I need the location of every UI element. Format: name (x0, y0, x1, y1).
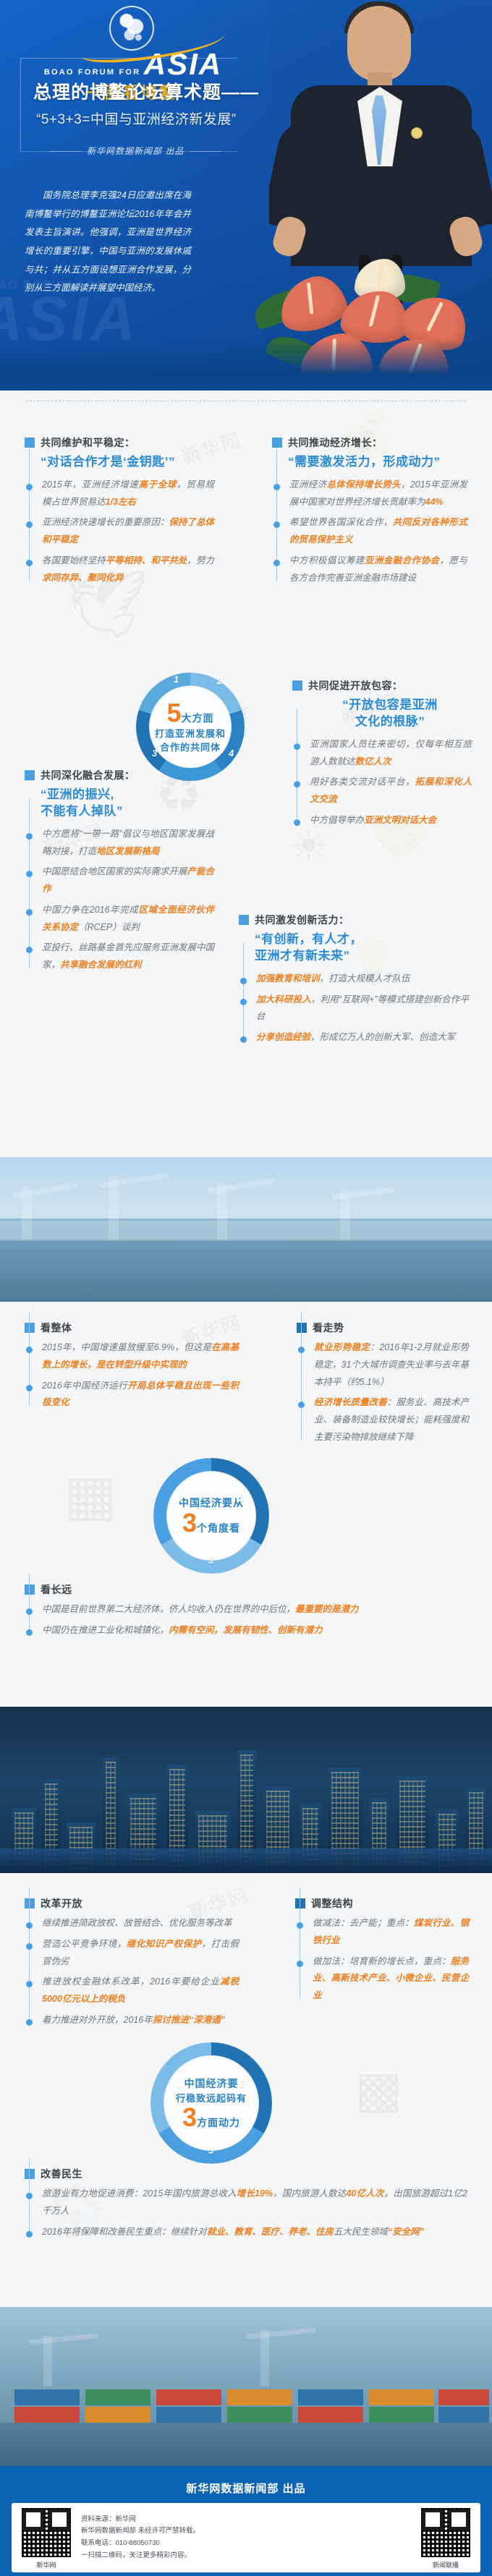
highlight-text: 增长19% (237, 2188, 273, 2198)
aspect-1-bullets: 2015年，亚洲经济增速高于全球，贸易规模占世界贸易达1/3左右亚洲经济快速增长… (29, 477, 214, 587)
body-text: 继续推进简政放权、放管结合、优化服务等改革 (42, 1918, 232, 1928)
aspect-4-quote: “开放包容是亚洲 文化的根脉” (308, 697, 472, 730)
donut-label-3: 3 (152, 748, 157, 759)
donut-chart-2: 中国经济要从 3个角度看 1 2 3 (153, 1458, 269, 1574)
bullet-item: 亚投行、丝路基金首先应服务亚洲发展中国家，共享融合发展的红利 (29, 939, 214, 974)
highlight-text: 平等相待、和平共处 (106, 555, 187, 566)
donut2-line2: 个角度看 (197, 1522, 240, 1534)
donut3-label-3: 3 (208, 2145, 213, 2156)
hero-gradient-fade (0, 340, 492, 391)
driver-1-header: 改革开放 (25, 1896, 239, 1911)
port-crane-arm-1 (29, 2333, 98, 2345)
body-text: ，打造大规模人才队伍 (320, 973, 410, 984)
body-text: 培育新的增长点，重点： (349, 1956, 451, 1966)
container-2 (14, 2389, 80, 2405)
driver-3-title: 改善民生 (41, 2167, 82, 2181)
crane-arm-3 (208, 1178, 275, 1194)
angle-1-bullets: 2015年，中国增速虽放缓至6.9%，但这是在高基数上的增长，是在转型升级中实现… (29, 1339, 239, 1412)
body-text: 营造公平竞争环境， (42, 1939, 127, 1949)
page-title: 总理的博鳌论坛算术题—— (33, 78, 259, 104)
aspect-4-header: 共同促进开放包容： (292, 678, 472, 693)
donut-center: 5大方面 打造亚洲发展和 合作的共同体 (149, 686, 232, 768)
bullet-square-icon (25, 438, 35, 448)
body-text: 中国力争在2016年完成 (42, 905, 139, 915)
bullet-item: 做加法：培育新的增长点，重点：服务业、高新技术产业、小微企业、民营企业 (300, 1953, 469, 2005)
container-8 (227, 2389, 292, 2405)
body-text: 中方倡导举办 (310, 815, 364, 825)
body-text: 做减法： (313, 1918, 349, 1928)
bullet-item: 中国愿结合地区国家的实际需求开展产能合作 (29, 863, 214, 898)
bullet-item: 旅游业有力地促进消费：2015年国内旅游总收入增长19%，国内旅游人数达40亿人… (29, 2185, 467, 2220)
bullet-item: 营造公平竞争环境，继化知识产权保护，打击假冒伪劣 (29, 1936, 239, 1971)
body-text: 着力推进对外开放，2016年 (42, 2015, 153, 2025)
donut-label-4: 4 (229, 748, 234, 759)
aspect-3-quote: “亚洲的振兴, 不能有人掉队” (41, 787, 214, 820)
body-text: 亚洲经济快速增长的重要原因： (42, 517, 169, 527)
qr-cell-2[interactable]: 新闻联播 (420, 2507, 472, 2569)
angle-2-header: 看走势 (297, 1321, 469, 1335)
aspect-1-title: 共同维护和平稳定： (41, 435, 135, 450)
body-text: 中国愿结合地区国家的实际需求开展 (42, 866, 187, 877)
river (0, 1848, 492, 1873)
logo-tagline: BOAO FORUM FOR (44, 68, 140, 77)
three-drivers-donut: 中国经济要 行稳致远起码有 3方面动力 1 2 3 (150, 2042, 272, 2164)
angle-1-header: 看整体 (25, 1321, 239, 1335)
body-text: ，形成亿万人的创新大军、创造大军 (310, 1032, 455, 1042)
port-crane-arm-2 (246, 2327, 315, 2340)
driver-card-1: 改革开放 继续推进简政放权、放管结合、优化服务等改革营造公平竞争环境，继化知识产… (25, 1896, 239, 2033)
donut2-label-1: 1 (178, 1493, 183, 1504)
highlight-text: 1/3左右 (106, 497, 136, 507)
qr-label-2: 新闻联播 (420, 2560, 472, 2569)
highlight-text: 数亿人次 (355, 756, 391, 767)
footer-title: 新华网数据新闻部 出品 (0, 2476, 492, 2503)
donut3-headline: 3方面动力 (182, 2104, 240, 2131)
aspect-card-1: 共同维护和平稳定： “对话合作才是‘金钥匙’” 2015年，亚洲经济增速高于全球… (25, 435, 214, 590)
container-port-band (0, 2307, 492, 2466)
highlight-text: 40亿人次 (347, 2188, 384, 2198)
angle-card-2: 看走势 就业形势稳定：2016年1-2月就业形势稳定，31个大城市调查失业率与去… (297, 1321, 469, 1450)
angle-card-1: 看整体 2015年，中国增速虽放缓至6.9%，但这是在高基数上的增长，是在转型升… (25, 1321, 239, 1415)
bullet-item: 继续推进简政放权、放管结合、优化服务等改革 (29, 1915, 239, 1932)
flower-1 (274, 270, 352, 337)
body-text: 各国要始终坚持 (42, 555, 106, 566)
crane-arm-2 (100, 1172, 169, 1187)
bullet-item: 中国力争在2016年完成区域全面经济伙伴关系协定（RCEP）谈判 (29, 902, 214, 937)
driver-card-2: 调整结构 做减法：去产能；重点：煤炭行业、钢铁行业做加法：培育新的增长点，重点：… (295, 1896, 469, 2008)
aspect-5-bullets: 加强教育和培训，打造大规模人才队伍加大科研投入，利用“互联网+”等模式搭建创新合… (243, 971, 469, 1046)
bullet-item: 亚洲国家人员往来密切，仅每年相互旅游人数就达数亿人次 (297, 736, 472, 771)
bullet-item: 亚洲经济总体保持增长势头，2015年亚洲发展中国家对世界经济增长贡献率为44% (276, 477, 467, 511)
highlight-text: 探讨推进“深港通” (153, 2015, 225, 2025)
highlight-text: “安全网” (388, 2227, 424, 2237)
aspect-2-title: 共同推动经济增长： (288, 435, 383, 450)
bullet-item: 分享创造经验，形成亿万人的创新大军、创造大军 (243, 1029, 469, 1046)
infographic-page: BOAO FORUM FOR ASIA BOAO FORUM FOR ASIA … (0, 0, 492, 2576)
highlight-text: 经济增长质量改善 (314, 1397, 387, 1407)
donut3-line3: 方面动力 (197, 2117, 240, 2128)
highlight-text: 44% (425, 497, 444, 507)
bullet-item: 中方倡导举办亚洲文明对话大会 (297, 812, 472, 829)
body-text: 中国是目前世界第二大经济体，侪人均收入仍在世界的中后位， (42, 1604, 295, 1614)
bullet-square-icon (25, 1585, 35, 1595)
bullet-item: 2016年中国经济运行开局总体平稳且出现一些积极变化 (29, 1378, 239, 1412)
highlight-text: 总体保持增长势头 (326, 479, 401, 490)
bullet-item: 2015年，亚洲经济增速高于全球，贸易规模占世界贸易达1/3左右 (29, 477, 214, 511)
angle-3-bullets: 中国是目前世界第二大经济体，侪人均收入仍在世界的中后位，最重要的是潜力中国仍在推… (29, 1601, 467, 1639)
container-3 (85, 2407, 150, 2423)
body-text: 做加法： (313, 1956, 349, 1966)
donut-label-5: 5 (242, 704, 247, 715)
angle-3-header: 看长远 (25, 1582, 467, 1597)
highlight-text: 加大科研投入 (256, 994, 311, 1005)
highlight-text: 亚洲文明对话大会 (364, 815, 436, 825)
bullet-item: 中方积极倡议筹建亚洲金融合作协会，愿与各方合作完善亚洲金融市场建设 (276, 553, 467, 587)
highlight-text: 加强教育和培训 (256, 973, 320, 984)
body-text: 用好各类交流对话平台， (310, 777, 415, 787)
three-angles-donut: 中国经济要从 3个角度看 1 2 3 (153, 1458, 269, 1574)
footer-meta: 资料来源：新华网 新华网数据新闻部 未经许可严禁转载。 联系电话：010-880… (81, 2514, 411, 2562)
container-7 (227, 2407, 292, 2423)
body-text: 中国仍在推进工业化和城镇化， (42, 1625, 169, 1635)
hero-section: BOAO FORUM FOR ASIA BOAO FORUM FOR ASIA … (0, 0, 492, 391)
qr-label-1: 新华网 (20, 2560, 72, 2569)
body-text: 去产能；重点： (349, 1918, 414, 1928)
angle-2-bullets: 就业形势稳定：2016年1-2月就业形势稳定，31个大城市调查失业率与去年基本持… (301, 1339, 469, 1446)
donut-label-2: 2 (217, 675, 222, 686)
qr-code-icon-1[interactable] (20, 2507, 72, 2559)
donut-chart: 5大方面 打造亚洲发展和 合作的共同体 1 2 3 4 5 (136, 673, 245, 781)
donut3-line1: 中国经济要 (184, 2076, 239, 2091)
bullet-item: 经济增长质量改善：服务业、高技术产业、装备制造业较快增长；能耗强度和主要污染物排… (301, 1394, 469, 1446)
donut-line1: 大方面 (182, 712, 214, 724)
bullet-item: 亚洲经济快速增长的重要原因：保持了总体和平稳定 (29, 514, 214, 549)
aspect-card-4: 共同促进开放包容： “开放包容是亚洲 文化的根脉” 亚洲国家人员往来密切，仅每年… (292, 678, 472, 833)
bullet-item: 中国是目前世界第二大经济体，侪人均收入仍在世界的中后位，最重要的是潜力 (29, 1601, 467, 1618)
driver-card-3: 改善民生 旅游业有力地促进消费：2015年国内旅游总收入增长19%，国内旅游人数… (25, 2167, 467, 2244)
crane-arm-4 (331, 1187, 395, 1200)
port-water (0, 2423, 492, 2466)
donut-headline: 5大方面 (166, 700, 213, 726)
section1-divider (26, 401, 466, 401)
page-footer: 新华网数据新闻部 出品 新华网 资料来源：新华网 新华网数据新闻部 未经许可严禁… (0, 2466, 492, 2576)
highlight-text: 高于全球 (139, 479, 177, 490)
aspect-5-title: 共同激发创新活力： (255, 913, 349, 927)
highlight-text: 求同存异、聚同化异 (42, 573, 124, 583)
highlight-text: 就业、教育、医疗、养老、住房 (207, 2227, 334, 2237)
harbour-photo-band (0, 1157, 492, 1302)
angle-card-3: 看长远 中国是目前世界第二大经济体，侪人均收入仍在世界的中后位，最重要的是潜力中… (25, 1582, 467, 1643)
page-subtitle: “5+3+3=中国与亚洲经济新发展” (36, 108, 237, 128)
container-12 (369, 2389, 434, 2405)
body-text: 旅游业有力地促进消费：2015年国内旅游总收入 (42, 2188, 237, 2198)
aspect-3-title: 共同深化融合发展： (41, 768, 135, 782)
water (0, 1240, 492, 1302)
bullet-item: 中方愿将“一带一路”倡议与地区国家发展战略对接，打造地区发展新格局 (29, 826, 214, 861)
highlight-text: 最重要的是潜力 (295, 1604, 359, 1614)
container-4 (85, 2389, 150, 2405)
section-five-aspects: 新华网 新华网 新华网 💰 ♻ 🤝 ☀ 🕊 💡 共同维护和平稳定： “对话合作才… (0, 391, 492, 1157)
bullet-item: 加强教育和培训，打造大规模人才队伍 (243, 971, 469, 988)
bullet-square-icon (292, 681, 302, 691)
footer-card: 新华网 资料来源：新华网 新华网数据新闻部 未经许可严禁转载。 联系电话：010… (12, 2503, 480, 2572)
aspect-2-quote: “需要激发活力，形成动力” (288, 454, 467, 471)
driver-1-title: 改革开放 (41, 1896, 82, 1911)
container-5 (156, 2407, 221, 2423)
aspect-5-quote: “有创新，有人才， 亚洲才有新未来” (255, 931, 469, 965)
donut3-number: 3 (182, 2102, 197, 2132)
aspect-3-bullets: 中方愿将“一带一路”倡议与地区国家发展战略对接，打造地区发展新格局中国愿结合地区… (29, 826, 214, 974)
donut-center-3: 中国经济要 行稳致远起码有 3方面动力 (164, 2055, 259, 2151)
container-14 (438, 2389, 489, 2405)
highlight-text: 亚洲金融合作协会 (365, 555, 440, 566)
port-crane-2 (260, 2330, 269, 2387)
footer-meta-line-4: 一扫描二维码，关注更多精彩内容。 (81, 2550, 411, 2562)
donut2-label-2: 2 (239, 1493, 244, 1504)
aspect-1-quote: “对话合作才是‘金钥匙’” (41, 454, 214, 471)
grid-icon: ▩ (355, 2064, 402, 2115)
bullet-item: 中国仍在推进工业化和城镇化，内需有空间，发展有韧性、创新有潜力 (29, 1622, 467, 1639)
donut2-label-3: 3 (208, 1555, 213, 1566)
body-text: ，努力 (187, 555, 214, 566)
driver-3-bullets: 旅游业有力地促进消费：2015年国内旅游总收入增长19%，国内旅游人数达40亿人… (29, 2185, 467, 2240)
aspect-1-header: 共同维护和平稳定： (25, 435, 214, 450)
body-text: 推进放权金融体系改革，2016年要给企业 (42, 1976, 220, 1987)
angle-2-title: 看走势 (313, 1321, 344, 1335)
donut3-label-1: 1 (177, 2078, 182, 2089)
city-skyline-band (0, 1707, 492, 1873)
highlight-text: 分享创造经验 (256, 1032, 310, 1042)
bullet-item: 做减法：去产能；重点：煤炭行业、钢铁行业 (300, 1915, 469, 1950)
driver-2-bullets: 做减法：去产能；重点：煤炭行业、钢铁行业做加法：培育新的增长点，重点：服务业、高… (300, 1915, 469, 2005)
dock (0, 1221, 492, 1241)
body-text: 亚洲经济 (289, 479, 326, 490)
driver-2-title: 调整结构 (311, 1896, 353, 1911)
photo-head (347, 6, 411, 81)
body-text: 2015年，亚洲经济增速 (42, 479, 139, 490)
qr-cell-1[interactable]: 新华网 (20, 2507, 72, 2569)
bullet-square-icon (25, 770, 35, 780)
highlight-text: 就业形势稳定 (314, 1342, 370, 1352)
driver-3-header: 改善民生 (25, 2167, 467, 2181)
cube-icon: ▦ (64, 1467, 117, 1523)
body-text: 2016年中国经济运行 (42, 1381, 127, 1391)
donut-line2: 打造亚洲发展和 (155, 726, 226, 740)
driver-2-header: 调整结构 (295, 1896, 469, 1911)
bullet-square-icon (239, 915, 249, 925)
donut-center-2: 中国经济要从 3个角度看 (166, 1471, 256, 1561)
footer-meta-line-3: 联系电话：010-88050730 (81, 2538, 411, 2550)
highlight-text: 内需有空间，发展有韧性、创新有潜力 (169, 1625, 323, 1635)
donut3-label-2: 2 (240, 2078, 245, 2089)
bullet-item: 用好各类交流对话平台，拓展和深化人文交流 (297, 774, 472, 809)
qr-code-icon-2[interactable] (420, 2507, 472, 2559)
intro-paragraph: 国务院总理李克强24日应邀出席在海南博鳌举行的博鳌亚洲论坛2016年年会并发表主… (25, 187, 191, 298)
body-text: 中方积极倡议筹建 (289, 555, 365, 566)
publisher-credit: 新华网数据新闻部 出品 (87, 145, 184, 157)
body-text: 2015年，中国增速虽放缓至6.9%，但这是 (42, 1342, 211, 1352)
body-text: （RCEP）谈判 (78, 922, 140, 932)
body-text: 2016年将保障和改善民生重点：继续针对 (42, 2227, 207, 2237)
donut2-number: 3 (182, 1508, 197, 1538)
donut-label-1: 1 (174, 674, 179, 685)
bullet-item: 推进放权金融体系改革，2016年要给企业减税5000亿元以上的税负 (29, 1974, 239, 2008)
body-text: ，国内旅游人数达 (273, 2188, 347, 2198)
highlight-text: 地区发展新格局 (96, 846, 160, 856)
bullet-square-icon (25, 1898, 35, 1908)
aspect-2-header: 共同推动经济增长： (272, 435, 467, 450)
bullet-item: 希望世界各国深化合作，共同反对各种形式的贸易保护主义 (276, 514, 467, 549)
section-three-drivers: 新华网 ▩ 🏠 改革开放 继续推进简政放权、放管结合、优化服务等改革营造公平竞争… (0, 1873, 492, 2307)
container-10 (298, 2389, 363, 2405)
aspect-card-3: 共同深化融合发展： “亚洲的振兴, 不能有人掉队” 中方愿将“一带一路”倡议与地… (25, 768, 214, 978)
highlight-text: 共享融合发展的红利 (60, 960, 142, 970)
donut-chart-3: 中国经济要 行稳致远起码有 3方面动力 1 2 3 (150, 2042, 272, 2164)
angle-1-title: 看整体 (41, 1321, 72, 1335)
bullet-item: 2016年将保障和改善民生重点：继续针对就业、教育、医疗、养老、住房五大民生领域… (29, 2224, 467, 2241)
container-11 (369, 2407, 434, 2423)
bullet-square-icon (25, 2169, 35, 2179)
donut2-headline: 3个角度看 (182, 1510, 240, 1536)
aspect-card-2: 共同推动经济增长： “需要激发活力，形成动力” 亚洲经济总体保持增长势头，201… (272, 435, 467, 590)
five-aspects-donut: 5大方面 打造亚洲发展和 合作的共同体 1 2 3 4 5 (136, 673, 245, 781)
bullet-square-icon (295, 1898, 305, 1908)
donut-line3: 合作的共同体 (160, 740, 221, 754)
donut-number: 5 (166, 698, 181, 728)
body-text: 希望世界各国深化合作， (289, 517, 393, 527)
section-three-angles: 新华网 ▦ 看整体 2015年，中国增速虽放缓至6.9%，但这是在高基数上的增长… (0, 1302, 492, 1707)
photo-lapel-pin (411, 127, 423, 139)
bullet-square-icon (297, 1323, 307, 1333)
aspect-2-bullets: 亚洲经济总体保持增长势头，2015年亚洲发展中国家对世界经济增长贡献率为44%希… (276, 477, 467, 587)
body-text: 五大民生领域 (334, 2227, 388, 2237)
container-13 (438, 2407, 489, 2423)
aspect-4-bullets: 亚洲国家人员往来密切，仅每年相互旅游人数就达数亿人次用好各类交流对话平台，拓展和… (297, 736, 472, 829)
driver-1-bullets: 继续推进简政放权、放管结合、优化服务等改革营造公平竞争环境，继化知识产权保护，打… (29, 1915, 239, 2029)
bullet-item: 就业形势稳定：2016年1-2月就业形势稳定，31个大城市调查失业率与去年基本持… (301, 1339, 469, 1391)
container-9 (298, 2407, 363, 2423)
footer-meta-line-1: 资料来源：新华网 (81, 2514, 411, 2526)
bullet-item: 着力推进对外开放，2016年探讨推进“深港通” (29, 2012, 239, 2029)
aspect-5-header: 共同激发创新活力： (239, 913, 469, 927)
bullet-item: 加大科研投入，利用“互联网+”等模式搭建创新合作平台 (243, 991, 469, 1026)
aspect-card-5: 共同激发创新活力： “有创新，有人才， 亚洲才有新未来” 加强教育和培训，打造大… (239, 913, 469, 1050)
footer-meta-line-2: 新华网数据新闻部 未经许可严禁转载。 (81, 2525, 411, 2538)
container-1 (14, 2407, 80, 2423)
bullet-square-icon (25, 1323, 35, 1333)
aspect-4-title: 共同促进开放包容： (308, 678, 403, 693)
angle-3-title: 看长远 (41, 1582, 72, 1597)
bullet-item: 2015年，中国增速虽放缓至6.9%，但这是在高基数上的增长，是在转型升级中实现… (29, 1339, 239, 1374)
container-6 (156, 2389, 221, 2405)
bullet-square-icon (272, 438, 282, 448)
bullet-item: 各国要始终坚持平等相待、和平共处，努力求同存异、聚同化异 (29, 553, 214, 587)
highlight-text: 继化知识产权保护 (127, 1939, 202, 1949)
